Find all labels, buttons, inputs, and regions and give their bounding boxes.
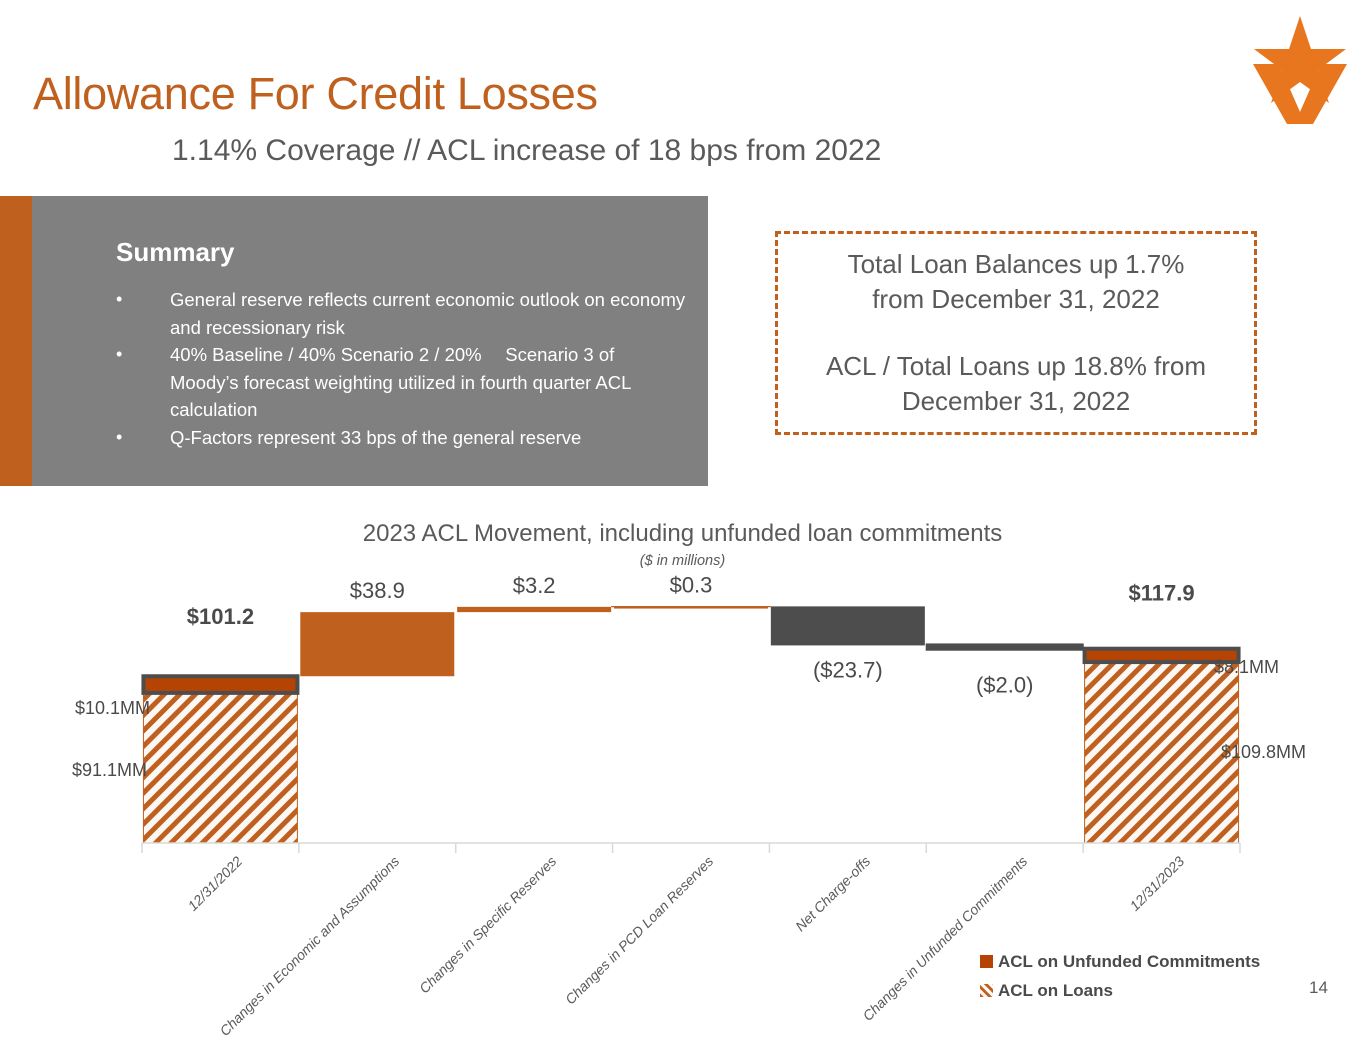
callout-line-3: ACL / Total Loans up 18.8% from [826, 349, 1206, 384]
legend-item-loans: ACL on Loans [980, 976, 1260, 1005]
bar-value-label: $0.3 [670, 575, 713, 597]
bar-increase [457, 607, 611, 612]
chart-legend: ACL on Unfunded Commitments ACL on Loans [980, 947, 1260, 1005]
star-over-v-logo [1245, 12, 1355, 124]
legend-swatch-icon [980, 955, 993, 968]
callout-line-2: from December 31, 2022 [872, 282, 1160, 317]
bar-value-label: ($23.7) [813, 657, 883, 682]
bar-value-label: $101.2 [187, 604, 254, 629]
bar-segment-acl-on-loans [143, 693, 297, 843]
segment-annotation: $10.1MM [75, 698, 150, 718]
bar-decrease [928, 645, 1082, 648]
waterfall-chart: $101.2$38.9$3.2$0.3($23.7)($2.0)$117.9 $… [0, 575, 1365, 865]
list-item: • General reserve reflects current econo… [116, 286, 686, 341]
legend-item-label: ACL on Loans [998, 981, 1113, 1001]
summary-bullet-list: • General reserve reflects current econo… [116, 286, 686, 451]
chart-subtitle: ($ in millions) [0, 553, 1365, 569]
list-item-label: Q-Factors represent 33 bps of the genera… [170, 424, 686, 452]
bar-value-label: ($2.0) [976, 673, 1033, 698]
bullet-glyph: • [116, 341, 170, 369]
segment-annotation: $91.1MM [72, 760, 147, 780]
page-subtitle: 1.14% Coverage // ACL increase of 18 bps… [172, 134, 881, 168]
callout-box: Total Loan Balances up 1.7% from Decembe… [775, 231, 1257, 435]
x-axis-label: Changes in PCD Loan Reserves [562, 853, 716, 1007]
summary-heading: Summary [116, 237, 235, 268]
legend-item-label: ACL on Unfunded Commitments [998, 952, 1260, 972]
list-item: • 40% Baseline / 40% Scenario 2 / 20% Sc… [116, 341, 686, 424]
legend-item-unfunded: ACL on Unfunded Commitments [980, 947, 1260, 976]
summary-accent-bar [0, 196, 32, 486]
x-axis-label: Changes in Specific Reserves [416, 853, 559, 996]
bar-value-label: $38.9 [350, 578, 405, 603]
page-number: 14 [1309, 978, 1328, 998]
bar-value-label: $3.2 [513, 575, 556, 598]
bar-decrease [771, 606, 925, 645]
bullet-glyph: • [116, 286, 170, 314]
bar-segment-acl-on-unfunded [143, 676, 297, 693]
page-title: Allowance For Credit Losses [33, 68, 598, 120]
list-item-label: General reserve reflects current economi… [170, 286, 686, 341]
list-item: • Q-Factors represent 33 bps of the gene… [116, 424, 686, 452]
x-axis-label: Net Charge-offs [792, 853, 873, 934]
callout-line-1: Total Loan Balances up 1.7% [848, 247, 1185, 282]
bar-segment-acl-on-loans [1085, 662, 1239, 843]
segment-annotation: $109.8MM [1221, 742, 1306, 762]
list-item-label: 40% Baseline / 40% Scenario 2 / 20% Scen… [170, 341, 686, 424]
bar-value-label: $117.9 [1129, 581, 1195, 606]
callout-line-4: December 31, 2022 [902, 384, 1130, 419]
bar-increase [300, 612, 454, 676]
chart-title: 2023 ACL Movement, including unfunded lo… [0, 520, 1365, 548]
legend-swatch-icon [980, 984, 993, 997]
bullet-glyph: • [116, 424, 170, 452]
x-axis-label: Changes in Economic and Assumptions [217, 853, 403, 1039]
segment-annotation: $8.1MM [1214, 657, 1279, 677]
